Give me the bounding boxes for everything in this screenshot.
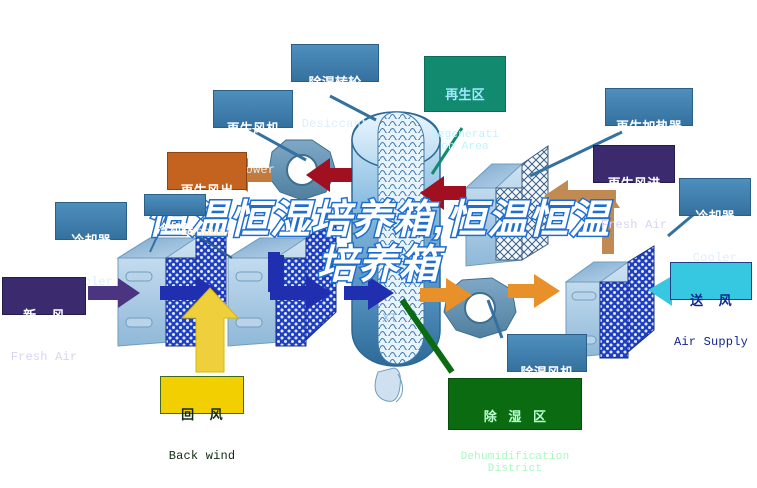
arrow-dehum-2 [508, 274, 560, 308]
label-regeneration-heater-cn: 再生加热器 [606, 120, 692, 134]
label-dehumidification-blower[interactable]: 除湿风机 Blower [507, 334, 587, 372]
diagram-canvas: XT [0, 0, 757, 488]
label-fresh-air-in-cn: 新 风 [3, 309, 85, 323]
label-cooler-mid[interactable]: 冷却器 [144, 194, 206, 216]
label-regeneration-heater[interactable]: 再生加热器 heater [605, 88, 693, 126]
label-cooler-mid-cn: 冷却器 [145, 223, 205, 236]
label-back-wind[interactable]: 回 风 Back wind [160, 376, 244, 414]
label-desiccant-rotor-en: Desiccant [292, 118, 378, 131]
label-desiccant-rotor[interactable]: 除湿转轮 Desiccant [291, 44, 379, 82]
label-dehumidification-district[interactable]: 除 湿 区 Dehumidification District [448, 378, 582, 430]
label-air-supply[interactable]: 送 风 Air Supply [670, 262, 752, 300]
label-fresh-air-in[interactable]: 新 风 Fresh Air [2, 277, 86, 315]
label-dehumidification-district-en: Dehumidification District [449, 452, 581, 476]
svg-text:XT: XT [382, 311, 398, 325]
label-regeneration-area-en: Regenerati on Area [425, 130, 505, 154]
label-cooler-right[interactable]: 冷却器 Cooler [679, 178, 751, 216]
label-back-wind-en: Back wind [161, 450, 243, 463]
label-regeneration-blower-cn: 再生风机 [214, 122, 292, 136]
label-regeneration-area-cn: 再生区 [425, 88, 505, 102]
label-regeneration-fresh-air-cn: 再生风进 [594, 177, 674, 191]
label-cooler-left-cn: 冷却器 [56, 234, 126, 248]
label-regeneration-exhaust[interactable]: 再生风出 Exhaust [167, 152, 247, 190]
label-regeneration-area[interactable]: 再生区 Regenerati on Area [424, 56, 506, 112]
arrow-riser-supply [290, 250, 302, 282]
label-air-supply-cn: 送 风 [671, 294, 751, 308]
label-dehumidification-district-cn: 除 湿 区 [449, 410, 581, 424]
label-cooler-left[interactable]: 冷却器 Cooler [55, 202, 127, 240]
label-air-supply-en: Air Supply [671, 336, 751, 349]
label-regeneration-blower[interactable]: 再生风机 Blower [213, 90, 293, 128]
label-back-wind-cn: 回 风 [161, 408, 243, 422]
label-desiccant-rotor-cn: 除湿转轮 [292, 76, 378, 90]
label-regeneration-fresh-air[interactable]: 再生风进 Fresh Air [593, 145, 675, 183]
label-fresh-air-in-en: Fresh Air [3, 351, 85, 364]
label-cooler-right-cn: 冷却器 [680, 210, 750, 224]
label-regeneration-fresh-air-en: Fresh Air [594, 219, 674, 232]
arrow-supply-out [268, 252, 280, 292]
